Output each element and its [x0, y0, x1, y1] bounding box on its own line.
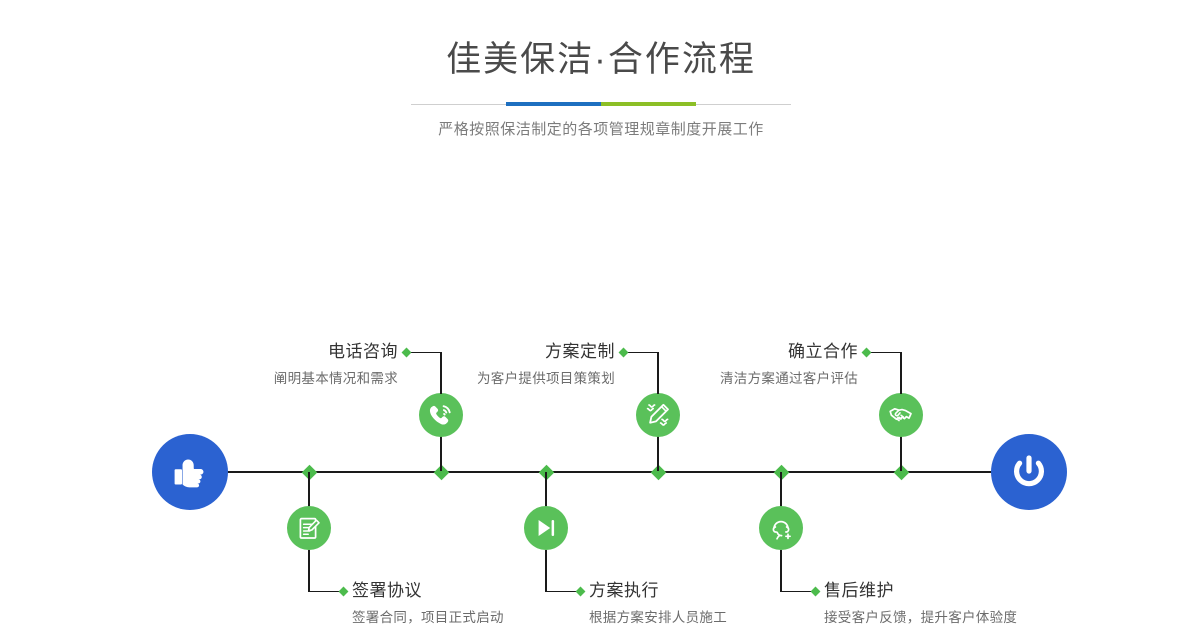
step-title-5: 确立合作 — [608, 343, 858, 360]
flow-start-node[interactable] — [152, 434, 228, 510]
flow-end-node[interactable] — [991, 434, 1067, 510]
step-title-6: 售后维护 — [824, 582, 1124, 599]
elbow-v-step-4 — [545, 550, 546, 592]
pointing-hand-icon — [169, 451, 211, 493]
play-execute-icon — [534, 516, 558, 540]
step-label-3: 方案定制 为客户提供项目策策划 — [368, 343, 615, 386]
step-title-3: 方案定制 — [368, 343, 615, 360]
step-label-4: 方案执行 根据方案安排人员施工 — [589, 582, 849, 625]
divider-segment-green — [601, 102, 696, 106]
step-desc-2: 签署合同，项目正式启动 — [352, 611, 612, 625]
elbow-h-step-5 — [868, 352, 901, 353]
process-flow-diagram: 电话咨询 阐明基本情况和需求 签署协议 签署合同，项目正式启动 — [0, 150, 1202, 502]
page-header: 佳美保洁·合作流程 严格按照保洁制定的各项管理规章制度开展工作 — [0, 0, 1202, 139]
step-desc-1: 阐明基本情况和需求 — [150, 372, 398, 386]
step-desc-5: 清洁方案通过客户评估 — [608, 372, 858, 386]
step-label-5: 确立合作 清洁方案通过客户评估 — [608, 343, 858, 386]
step-title-1: 电话咨询 — [150, 343, 398, 360]
power-icon — [1007, 450, 1051, 494]
step-desc-4: 根据方案安排人员施工 — [589, 611, 849, 625]
divider-segment-blue — [506, 102, 601, 106]
title-divider — [411, 102, 791, 106]
infographic-canvas: 佳美保洁·合作流程 严格按照保洁制定的各项管理规章制度开展工作 — [0, 0, 1202, 502]
phone-call-icon — [428, 402, 454, 428]
headset-support-icon — [769, 516, 794, 541]
elbow-h-step-6 — [780, 591, 813, 592]
label-diamond-2 — [339, 586, 349, 596]
step-desc-3: 为客户提供项目策策划 — [368, 372, 615, 386]
step-desc-6: 接受客户反馈，提升客户体验度 — [824, 611, 1124, 625]
step-icon-4[interactable] — [524, 506, 568, 550]
elbow-v-step-2 — [308, 550, 309, 592]
step-icon-3[interactable] — [636, 393, 680, 437]
handshake-icon — [888, 402, 915, 429]
elbow-v-step-6 — [780, 550, 781, 592]
step-icon-2[interactable] — [287, 506, 331, 550]
document-sign-icon — [297, 516, 322, 541]
label-diamond-5 — [862, 347, 872, 357]
step-label-1: 电话咨询 阐明基本情况和需求 — [150, 343, 398, 386]
pencil-design-icon — [645, 402, 671, 428]
step-icon-6[interactable] — [759, 506, 803, 550]
elbow-h-step-2 — [308, 591, 341, 592]
page-subtitle: 严格按照保洁制定的各项管理规章制度开展工作 — [0, 118, 1202, 139]
step-icon-1[interactable] — [419, 393, 463, 437]
page-title: 佳美保洁·合作流程 — [0, 42, 1202, 77]
elbow-h-step-4 — [545, 591, 578, 592]
step-label-6: 售后维护 接受客户反馈，提升客户体验度 — [824, 582, 1124, 625]
step-icon-5[interactable] — [879, 393, 923, 437]
step-label-2: 签署协议 签署合同，项目正式启动 — [352, 582, 612, 625]
elbow-v-step-5 — [900, 352, 901, 394]
